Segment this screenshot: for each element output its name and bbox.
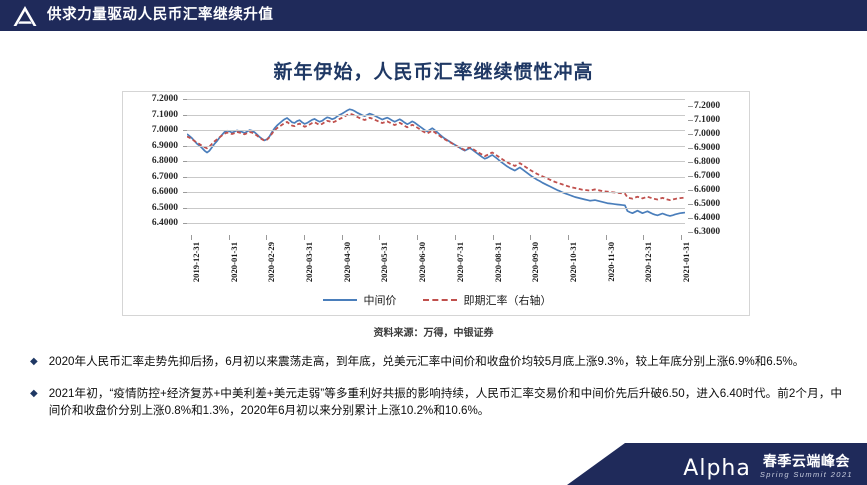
y-axis-right: 7.20007.10007.00006.90006.80006.70006.60…	[689, 99, 745, 239]
tick-mark	[266, 235, 267, 240]
tick-mark	[688, 162, 693, 163]
tick-mark	[643, 235, 644, 240]
alpha-wordmark: Alpha	[683, 458, 751, 480]
legend-label: 即期汇率（右轴）	[464, 292, 552, 308]
x-axis-tick-label: 2021-01-31	[681, 242, 691, 282]
y-axis-right-tick: 7.2000	[689, 101, 745, 111]
y-axis-left-tick: 7.0000	[127, 125, 183, 135]
tick-mark	[229, 235, 230, 240]
tick-mark	[688, 176, 693, 177]
chart-legend: 中间价 即期汇率（右轴）	[123, 292, 751, 308]
y-axis-right-tick: 7.0000	[689, 129, 745, 139]
chart-series-svg	[187, 99, 685, 239]
gridline	[187, 130, 685, 131]
tick-mark	[688, 218, 693, 219]
x-axis-tick-label: 2020-07-31	[455, 242, 465, 282]
slide: 供求力量驱动人民币汇率继续升值 新年伊始，人民币汇率继续惯性冲高 7.20007…	[0, 0, 867, 485]
chart-source-note: 资料来源：万得，中银证券	[0, 324, 867, 339]
bullet-text: 2020年人民币汇率走势先抑后扬，6月初以来震荡走高，到年底，兑美元汇率中间价和…	[49, 353, 805, 371]
x-axis-tick-label: 2020-08-31	[493, 242, 503, 282]
bullet-list: ◆ 2020年人民币汇率走势先抑后扬，6月初以来震荡走高，到年底，兑美元汇率中间…	[30, 353, 842, 434]
x-axis-tick-label: 2020-10-31	[568, 242, 578, 282]
page-title: 供求力量驱动人民币汇率继续升值	[47, 8, 274, 23]
legend-swatch-blue-line-icon	[323, 299, 357, 301]
y-axis-left-tick: 6.9000	[127, 141, 183, 151]
chart-line-spot-rate	[187, 114, 685, 200]
y-axis-left-tick: 6.4000	[127, 218, 183, 228]
x-axis-tick-label: 2020-06-30	[417, 242, 427, 282]
legend-label: 中间价	[364, 292, 397, 308]
gridline	[187, 115, 685, 116]
legend-item-spotrate[interactable]: 即期汇率（右轴）	[423, 292, 552, 308]
tick-mark	[304, 235, 305, 240]
chart-container: 7.20007.10007.00006.90006.80006.70006.60…	[122, 91, 750, 316]
tick-mark	[688, 190, 693, 191]
tick-mark	[191, 235, 192, 240]
list-item: ◆ 2021年初，“疫情防控+经济复苏+中美利差+美元走弱”等多重利好共振的影响…	[30, 385, 842, 420]
tick-mark	[417, 235, 418, 240]
gridline	[187, 223, 685, 224]
x-axis-tick-label: 2020-01-31	[229, 242, 239, 282]
tick-mark	[681, 235, 682, 240]
x-axis-tick-label: 2019-12-31	[191, 242, 201, 282]
summit-name: 春季云端峰会 Spring Summit 2021	[760, 453, 853, 480]
y-axis-left-tick: 7.2000	[127, 94, 183, 104]
y-axis-right-tick: 6.8000	[689, 157, 745, 167]
summit-name-cn: 春季云端峰会	[763, 453, 850, 469]
y-axis-left-tick: 6.7000	[127, 172, 183, 182]
tick-mark	[688, 106, 693, 107]
chart-plot-area	[187, 99, 685, 239]
y-axis-right-tick: 6.6000	[689, 185, 745, 195]
y-axis-right-tick: 6.9000	[689, 143, 745, 153]
slide-footer: Alpha 春季云端峰会 Spring Summit 2021	[0, 443, 867, 485]
y-axis-left-tick: 6.8000	[127, 156, 183, 166]
tick-mark	[568, 235, 569, 240]
tick-mark	[342, 235, 343, 240]
legend-swatch-red-dashed-icon	[423, 299, 457, 301]
y-axis-left-tick: 6.5000	[127, 203, 183, 213]
y-axis-right-tick: 6.4000	[689, 213, 745, 223]
tick-mark	[688, 232, 693, 233]
y-axis-left-tick: 6.6000	[127, 187, 183, 197]
tick-mark	[379, 235, 380, 240]
tick-mark	[530, 235, 531, 240]
chart-title: 新年伊始，人民币汇率继续惯性冲高	[0, 57, 867, 84]
tick-mark	[688, 134, 693, 135]
slide-header: 供求力量驱动人民币汇率继续升值	[0, 0, 867, 31]
tick-mark	[606, 235, 607, 240]
gridline	[187, 161, 685, 162]
x-axis-tick-label: 2020-03-31	[304, 242, 314, 282]
x-axis-tick-label: 2020-05-31	[379, 242, 389, 282]
diamond-bullet-icon: ◆	[30, 385, 38, 402]
diamond-bullet-icon: ◆	[30, 353, 38, 370]
x-axis-tick-label: 2020-02-29	[266, 242, 276, 282]
tick-mark	[688, 148, 693, 149]
chart-line-mid-price	[187, 109, 685, 216]
x-axis-tick-label: 2020-09-30	[530, 242, 540, 282]
gridline	[187, 146, 685, 147]
tick-mark	[688, 120, 693, 121]
gridline	[187, 177, 685, 178]
y-axis-right-tick: 6.7000	[689, 171, 745, 181]
gridline	[187, 99, 685, 100]
y-axis-right-tick: 6.5000	[689, 199, 745, 209]
tick-mark	[493, 235, 494, 240]
tick-mark	[688, 204, 693, 205]
y-axis-left: 7.20007.10007.00006.90006.80006.70006.60…	[127, 99, 183, 239]
y-axis-right-tick: 7.1000	[689, 115, 745, 125]
x-axis-tick-label: 2020-11-30	[606, 242, 616, 282]
footer-brand: Alpha 春季云端峰会 Spring Summit 2021	[683, 453, 853, 480]
tick-mark	[455, 235, 456, 240]
y-axis-right-tick: 6.3000	[689, 227, 745, 237]
mountain-triangle-icon	[12, 5, 38, 27]
gridline	[187, 192, 685, 193]
x-axis-tick-label: 2020-12-31	[643, 242, 653, 282]
bullet-text: 2021年初，“疫情防控+经济复苏+中美利差+美元走弱”等多重利好共振的影响持续…	[49, 385, 842, 420]
gridline	[187, 208, 685, 209]
y-axis-left-tick: 7.1000	[127, 110, 183, 120]
list-item: ◆ 2020年人民币汇率走势先抑后扬，6月初以来震荡走高，到年底，兑美元汇率中间…	[30, 353, 842, 371]
summit-name-en: Spring Summit 2021	[760, 470, 853, 481]
legend-item-midprice[interactable]: 中间价	[323, 292, 397, 308]
x-axis-tick-label: 2020-04-30	[342, 242, 352, 282]
